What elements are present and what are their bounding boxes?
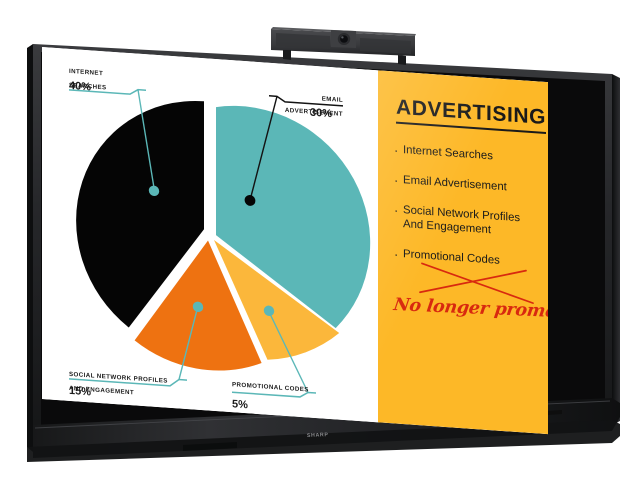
advertising-list-item-promotional-codes[interactable]: Promotional Codes [394, 247, 544, 271]
pie-label-email-advertisement: EMAIL ADVERTISEMENT [275, 85, 343, 118]
advertising-list-item-internet-searches[interactable]: Internet Searches [394, 143, 544, 167]
advertising-list-item-social-network[interactable]: Social Network Profiles And Engagement [394, 203, 544, 241]
pie-value-email-advertisement: 30% [310, 107, 332, 121]
camera-lens-glint [341, 36, 343, 38]
bezel-left-edge [27, 44, 33, 452]
pie-value-internet-searches: 40% [69, 80, 91, 94]
advertising-item-label: Email Advertisement [403, 174, 507, 193]
pie-label-email-advertisement-line1: EMAIL [322, 96, 343, 104]
brand-logo-text: SHARP [307, 432, 329, 439]
screenshot-root: SHARP [0, 0, 640, 480]
bezel-right-edge [612, 74, 620, 425]
advertising-list: Internet Searches Email Advertisement So… [394, 143, 544, 287]
pie-chart-pane: INTERNET SEARCHES 40% EMAIL ADVERTISEMEN… [42, 47, 378, 422]
handwritten-annotation: No longer promoting [392, 295, 548, 324]
soundbar-mount-right [398, 55, 406, 65]
advertising-item-label: Internet Searches [403, 144, 493, 162]
pie-slice-email-advertisement[interactable] [216, 104, 370, 330]
interactive-display-device: SHARP [0, 0, 640, 480]
camera-lens [340, 35, 348, 43]
pie-value-social-network: 15% [69, 385, 91, 399]
pie-label-social-network-line1: SOCIAL NETWORK PROFILES [69, 371, 168, 385]
soundbar-mount-left [283, 50, 291, 60]
advertising-pane: ADVERTISING Internet Searches Email Adve… [378, 70, 548, 434]
advertising-list-item-email-advertisement[interactable]: Email Advertisement [394, 173, 544, 197]
advertising-title: ADVERTISING [396, 96, 546, 134]
pie-label-internet-searches-line1: INTERNET [69, 68, 103, 77]
advertising-item-label: Promotional Codes [403, 248, 500, 267]
screen-inner: INTERNET SEARCHES 40% EMAIL ADVERTISEMEN… [42, 47, 548, 434]
pie-value-promotional-codes: 5% [232, 398, 248, 412]
brand-logo: SHARP [307, 432, 329, 439]
screen-content-layer: INTERNET SEARCHES 40% EMAIL ADVERTISEMEN… [42, 47, 548, 434]
